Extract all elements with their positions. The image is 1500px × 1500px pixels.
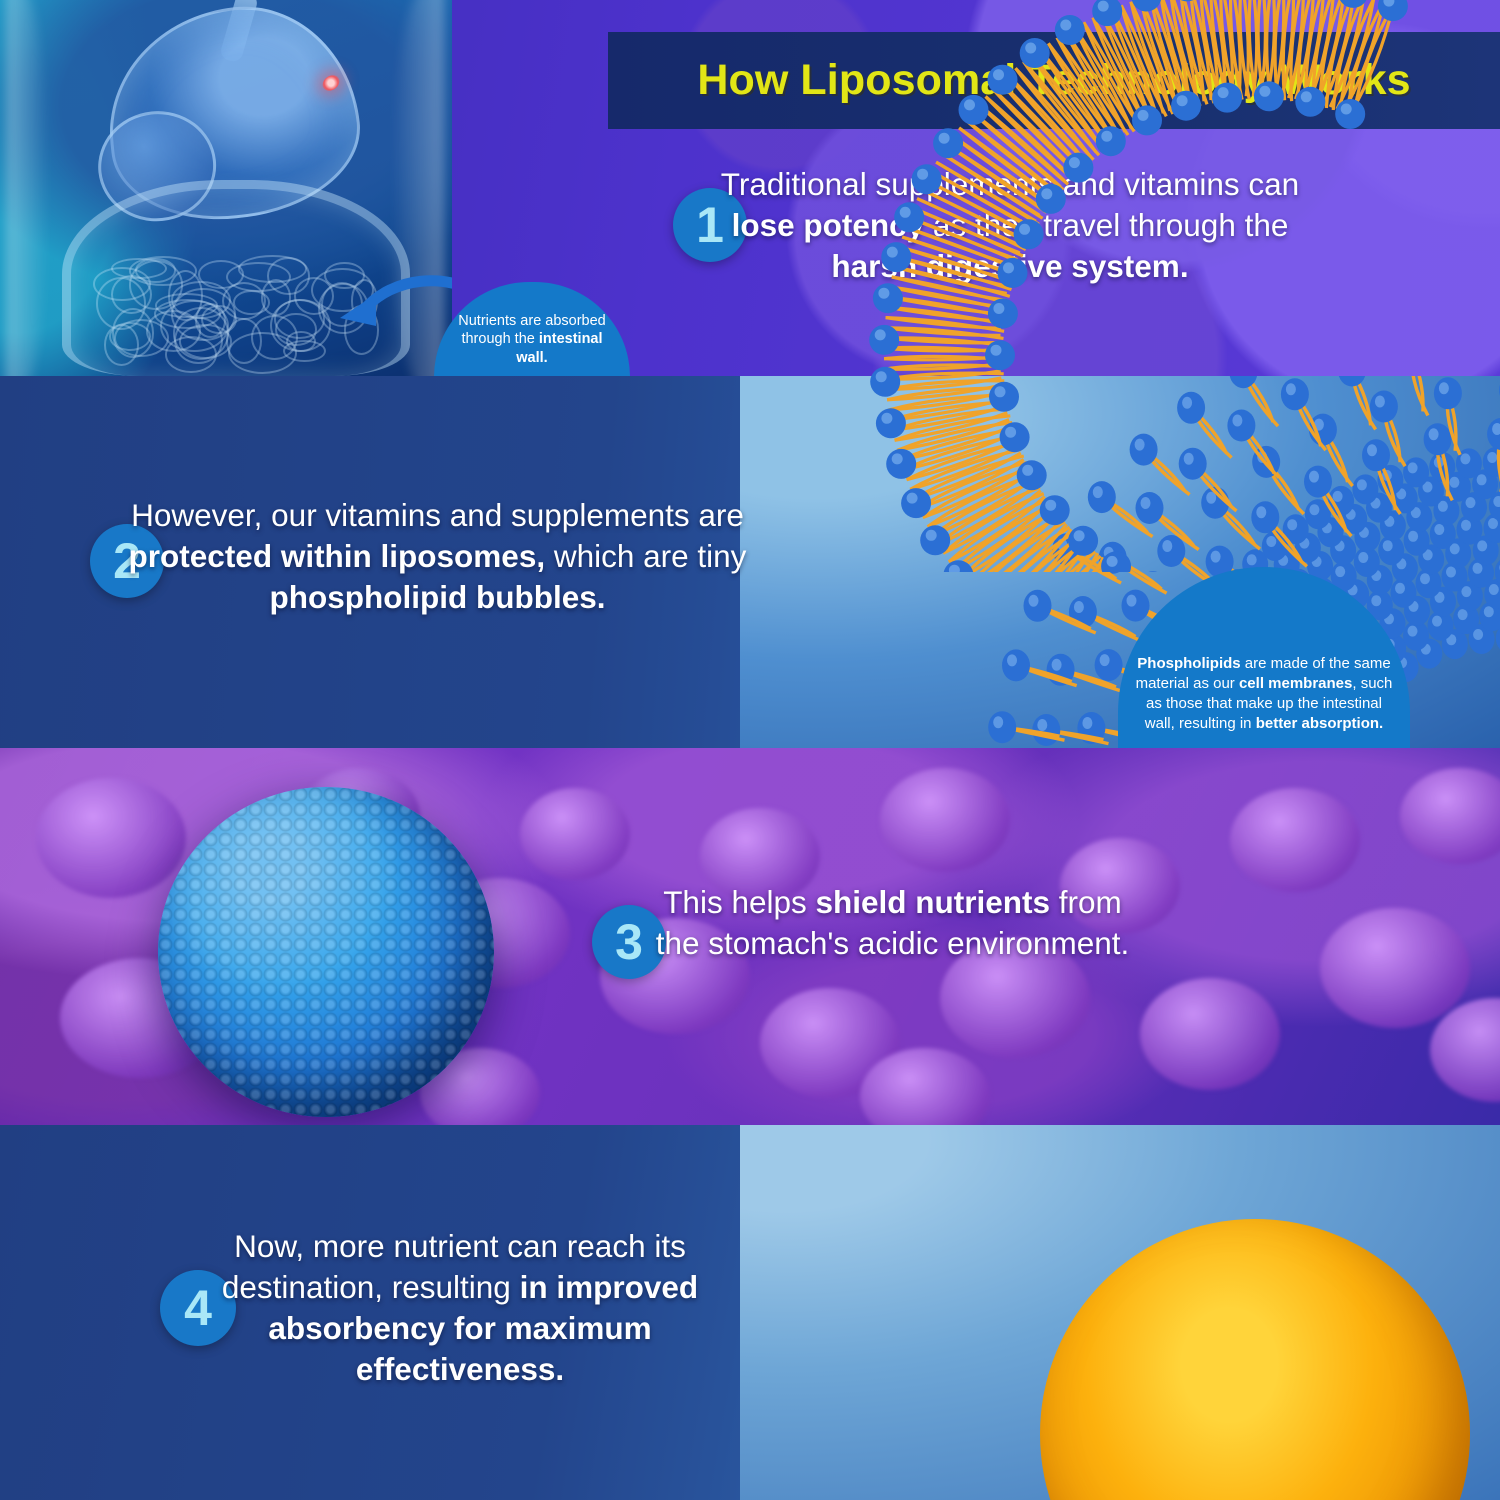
step-text-2: However, our vitamins and supplements ar…	[110, 495, 765, 618]
liposome-bead-texture	[158, 787, 494, 1117]
torso-outline-left	[6, 0, 48, 376]
callout-intestinal-wall-text: Nutrients are absorbed through the intes…	[448, 312, 616, 367]
digestive-system-illustration	[0, 0, 452, 376]
infographic-page: Nutrients are absorbed through the intes…	[0, 0, 1500, 1500]
absorption-arrow-icon	[330, 270, 452, 348]
step-text-4: Now, more nutrient can reach its destina…	[200, 1226, 720, 1390]
liposome-sphere-illustration	[158, 787, 494, 1117]
step-text-3: This helps shield nutrients from the sto…	[645, 882, 1140, 964]
liposome-cross-section-illustration	[726, 0, 1426, 572]
callout-phospholipids-text: Phospholipids are made of the same mater…	[1132, 654, 1396, 734]
